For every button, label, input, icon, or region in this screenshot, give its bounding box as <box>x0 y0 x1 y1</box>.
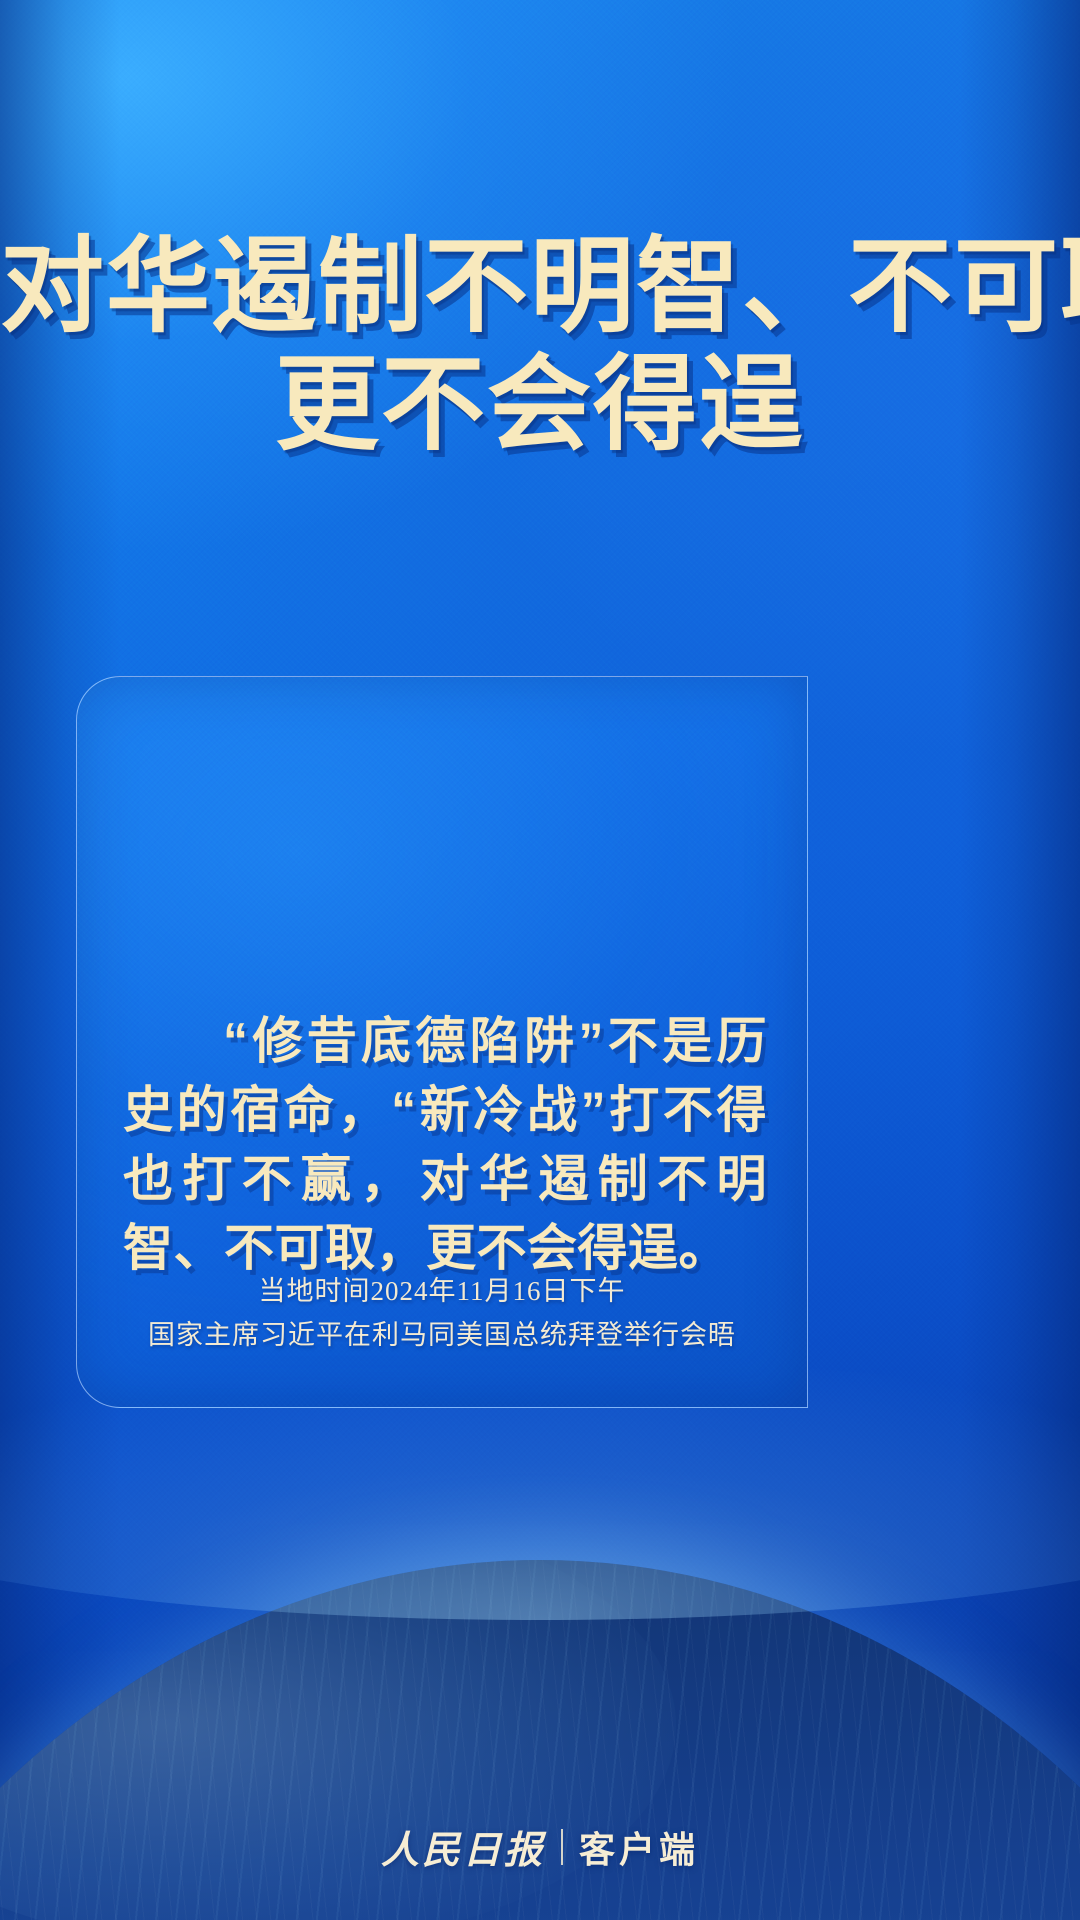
page-title: 对华遏制不明智、不可取 更不会得逞 <box>0 228 1080 464</box>
quote-card: “修昔底德陷阱”不是历史的宿命，“新冷战”打不得也打不赢，对华遏制不明智、不可取… <box>76 676 808 1408</box>
attribution-line-1: 当地时间2024年11月16日下午 <box>77 1269 807 1313</box>
attribution-line-2: 国家主席习近平在利马同美国总统拜登举行会晤 <box>77 1313 807 1357</box>
title-line-2: 更不会得逞 <box>0 346 1080 464</box>
logo-divider <box>561 1829 563 1865</box>
poster-root: 对华遏制不明智、不可取 更不会得逞 “修昔底德陷阱”不是历史的宿命，“新冷战”打… <box>0 0 1080 1920</box>
footer-logo: 人民日报 客户端 <box>0 1819 1080 1874</box>
title-line-1: 对华遏制不明智、不可取 <box>0 228 1080 346</box>
peoples-daily-logo-icon: 人民日报 <box>381 1819 545 1874</box>
quote-text: “修昔底德陷阱”不是历史的宿命，“新冷战”打不得也打不赢，对华遏制不明智、不可取… <box>123 1007 767 1283</box>
logo-app-label: 客户端 <box>579 1821 699 1873</box>
attribution: 当地时间2024年11月16日下午 国家主席习近平在利马同美国总统拜登举行会晤 <box>77 1269 807 1357</box>
